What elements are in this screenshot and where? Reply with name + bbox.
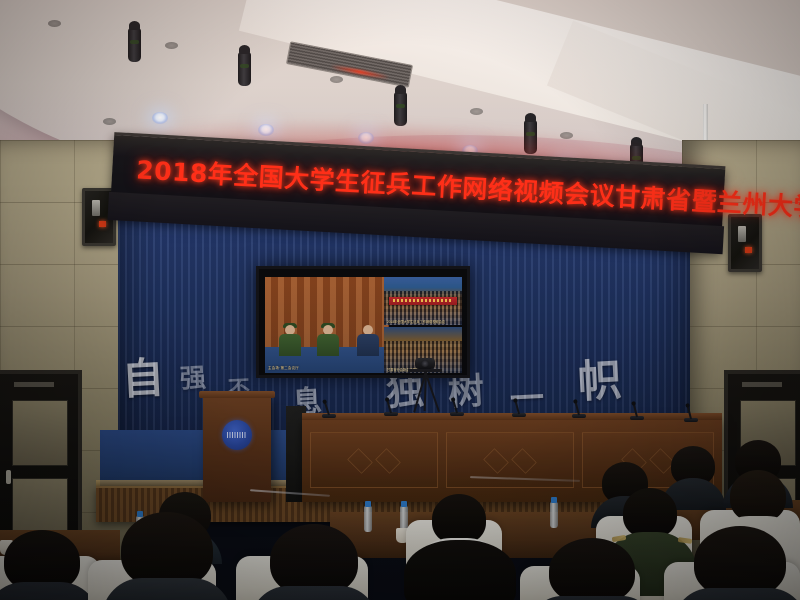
audience-person-front <box>0 530 94 600</box>
video-camera-icon <box>415 358 435 369</box>
audience-person-front-long-hair <box>394 540 526 600</box>
person-head <box>549 538 635 600</box>
person-head <box>623 488 677 538</box>
smoke-detector-icon <box>330 76 343 83</box>
video-feed-caption: 2018年全国大学生征兵工作网络视频会议 <box>387 319 445 324</box>
door-top-bar <box>14 382 54 387</box>
track-spotlight <box>128 28 141 62</box>
podium-top <box>199 391 275 398</box>
track-spotlight <box>238 52 251 86</box>
person-head <box>730 470 786 522</box>
person-shoulders <box>530 596 654 600</box>
audience-person-front <box>256 524 372 600</box>
door-top-bar <box>742 382 782 387</box>
control-box-led-indicator <box>99 221 106 227</box>
video-feed-main: 主会场·第二会议厅 <box>265 277 389 373</box>
audience-person-front <box>536 538 648 600</box>
person-shoulders <box>673 588 800 600</box>
video-red-banner <box>389 297 458 305</box>
smoke-detector-icon <box>470 108 483 115</box>
water-bottle <box>550 502 558 528</box>
audience-person-front <box>680 526 800 600</box>
conference-hall-photo: EPSON 自 强 不 息 独 树 <box>0 0 800 600</box>
audience-person-front <box>108 512 226 600</box>
calligraphy-char: 强 <box>179 365 206 392</box>
video-auditorium-view <box>384 277 462 325</box>
person-head <box>404 540 516 600</box>
person-shoulders <box>102 578 232 600</box>
person-shoulders <box>0 582 100 600</box>
smoke-detector-icon <box>48 20 61 27</box>
door-panel-upper <box>12 400 68 466</box>
video-person-officer <box>277 325 303 355</box>
video-feed-caption: 主会场·第二会议厅 <box>268 366 299 371</box>
person-head <box>432 494 486 544</box>
person-body <box>357 334 379 356</box>
door-handle[interactable] <box>6 470 11 484</box>
control-box-display <box>92 200 100 216</box>
person-head <box>121 512 213 588</box>
head-table-segment <box>310 432 438 488</box>
control-box-display <box>738 226 746 242</box>
video-feed-side-top: 2018年全国大学生征兵工作网络视频会议 <box>384 277 462 325</box>
calligraphy-char: 自 <box>121 357 165 401</box>
person-shoulders <box>250 586 378 600</box>
wall-control-box[interactable] <box>728 214 762 272</box>
calligraphy-char: 帜 <box>577 359 623 405</box>
tripod-leg <box>424 371 427 411</box>
university-emblem-icon <box>222 420 252 450</box>
diamond-panel-ornament <box>346 450 402 470</box>
diamond-panel-ornament <box>482 450 538 470</box>
video-person-official <box>355 325 381 355</box>
person-body <box>317 334 339 356</box>
video-camera-tripod <box>404 358 446 414</box>
video-person-officer <box>315 325 341 355</box>
speaker-podium <box>203 396 271 502</box>
smoke-detector-icon <box>165 42 178 49</box>
control-box-led-indicator <box>745 247 752 253</box>
person-body <box>279 334 301 356</box>
